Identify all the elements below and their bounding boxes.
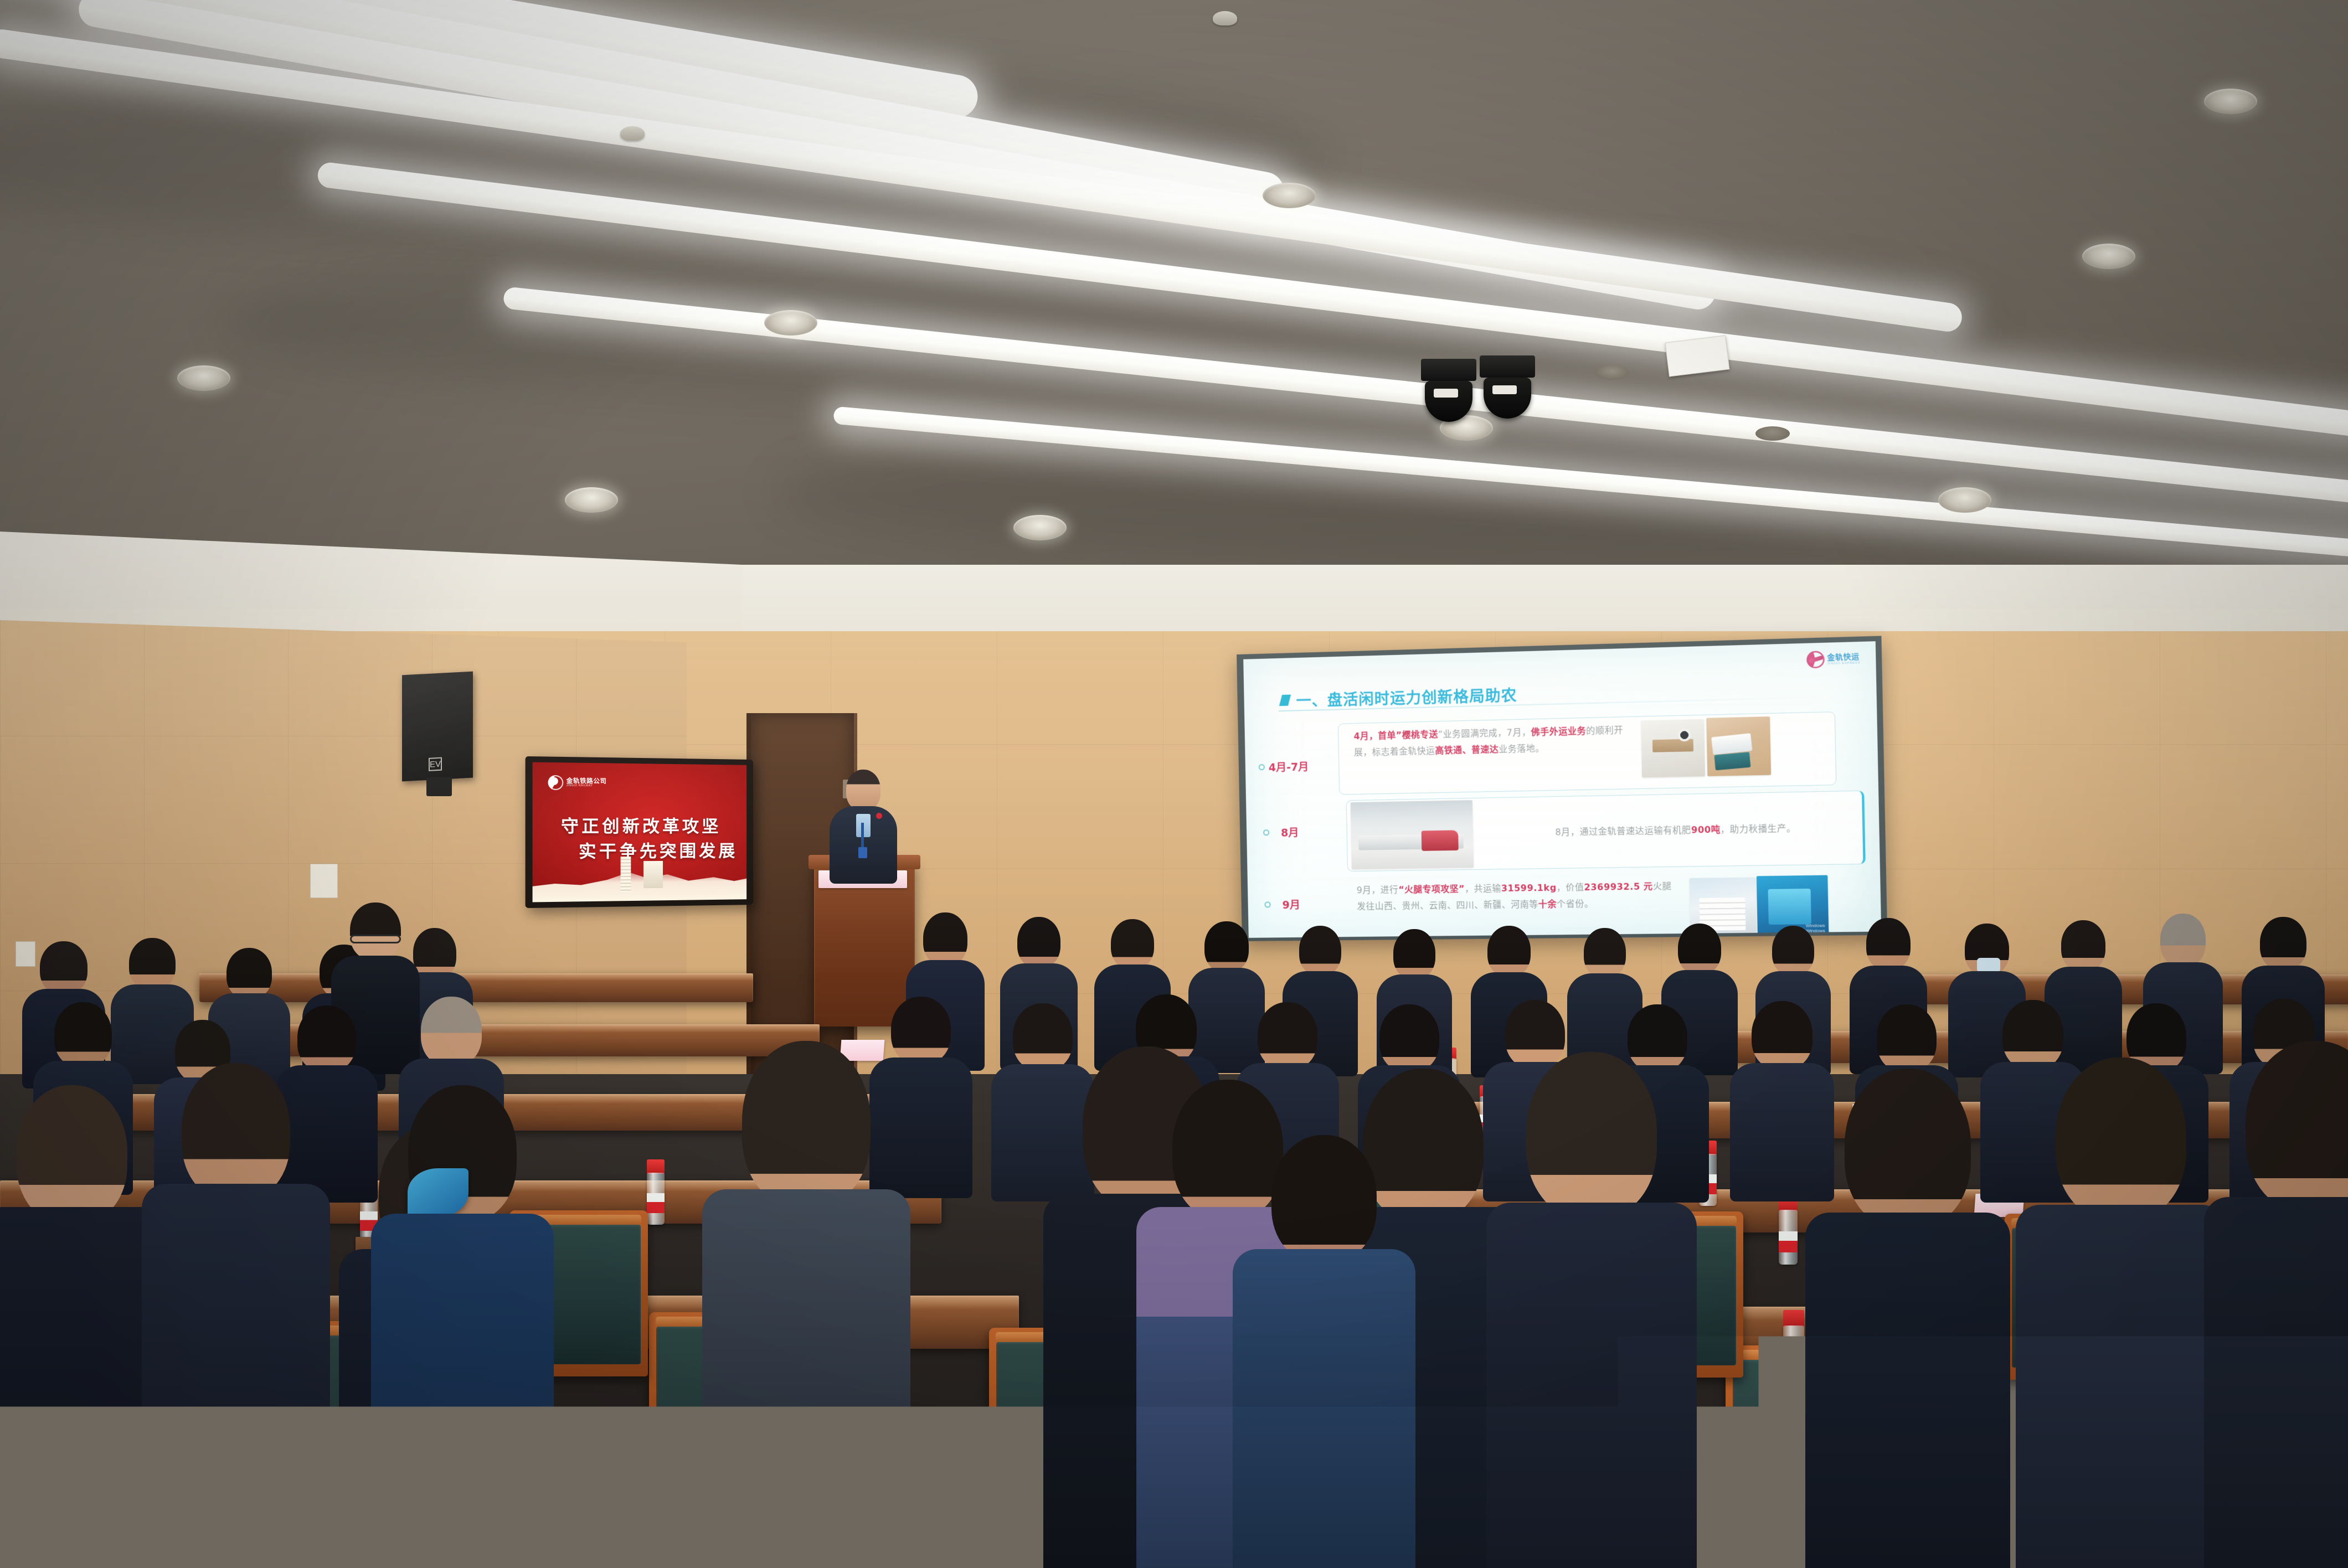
slide-bullet-icon bbox=[1279, 694, 1291, 706]
slide-logo-cn: 金轨快运 bbox=[1827, 652, 1859, 662]
attendee-foreground bbox=[2016, 1058, 2226, 1568]
downlight bbox=[2204, 89, 2257, 114]
downlight bbox=[2082, 244, 2135, 269]
banner-line-1: 守正创新改革攻坚 bbox=[561, 812, 721, 838]
company-swoosh-icon bbox=[548, 775, 564, 790]
water-bottle[interactable] bbox=[1779, 1196, 1798, 1265]
hair-bow-accessory bbox=[408, 1168, 468, 1217]
ptz-camera bbox=[1421, 359, 1476, 422]
projection-screen: 金轨快运 JINGUI EXPRESS 一、盘活闲时运力创新格局助农 4月-7月… bbox=[1237, 636, 1887, 941]
banner-line-2: 实干争先突围发展 bbox=[579, 837, 738, 863]
timeline-dot-icon bbox=[1263, 829, 1269, 835]
presenter-badge bbox=[858, 847, 867, 858]
conference-hall-scene: EV 金轨铁路公司 JINGUI RAILWAY 守正创新改革攻坚 实干争先突围… bbox=[0, 0, 2348, 1568]
slide-photo-hands-packing bbox=[1706, 716, 1771, 776]
presenter-lapel-pin bbox=[876, 813, 882, 819]
timeline-dot-icon bbox=[1259, 764, 1265, 770]
attendee-foreground bbox=[1805, 1069, 2010, 1568]
jingui-express-logo-icon bbox=[1806, 651, 1825, 668]
attendee-foreground-puffer bbox=[1233, 1135, 1415, 1568]
speaker-bracket bbox=[426, 777, 452, 796]
ceiling-vent bbox=[1595, 365, 1629, 380]
slide-logo-en: JINGUI EXPRESS bbox=[1827, 662, 1861, 666]
slide-photo-cargo-truck bbox=[1351, 800, 1474, 869]
smoke-detector bbox=[620, 126, 645, 141]
downlight bbox=[764, 310, 817, 336]
presenter bbox=[827, 770, 899, 880]
timeline-label-aug: 8月 bbox=[1263, 824, 1299, 840]
attendee-foreground bbox=[1486, 1052, 1697, 1568]
water-bottle[interactable] bbox=[647, 1159, 665, 1225]
timeline-label-apr-jul: 4月-7月 bbox=[1259, 759, 1309, 775]
timeline-dot-icon bbox=[1264, 901, 1270, 907]
downlight bbox=[1013, 515, 1067, 540]
banner-logo-text: 金轨铁路公司 JINGUI RAILWAY bbox=[567, 778, 607, 788]
led-banner: 金轨铁路公司 JINGUI RAILWAY 守正创新改革攻坚 实干争先突围发展 bbox=[526, 756, 753, 908]
speaker-brand-label: EV bbox=[429, 757, 442, 771]
face-mask bbox=[1977, 958, 2000, 972]
eyeglasses-icon bbox=[350, 935, 401, 943]
downlight bbox=[1938, 487, 1991, 513]
slide-canvas: 金轨快运 JINGUI EXPRESS 一、盘活闲时运力创新格局助农 4月-7月… bbox=[1243, 641, 1881, 938]
ptz-camera bbox=[1480, 355, 1535, 419]
attendee-foreground bbox=[0, 1085, 166, 1568]
slide-title-text: 一、盘活闲时运力创新格局助农 bbox=[1296, 683, 1517, 711]
wall-speaker: EV bbox=[402, 672, 473, 782]
banner-logo: 金轨铁路公司 JINGUI RAILWAY bbox=[548, 775, 607, 791]
banner-pagoda-icon bbox=[621, 857, 631, 892]
banner-building-icon bbox=[643, 861, 663, 888]
slide-text-sep: 9月，进行“火腿专项攻坚”，共运输31599.1kg，价值2369932.5 元… bbox=[1357, 878, 1677, 915]
downlight bbox=[565, 487, 618, 513]
attendee-foreground bbox=[2204, 1041, 2348, 1568]
timeline-label-sep: 9月 bbox=[1264, 897, 1300, 912]
attendee-foreground bbox=[702, 1041, 910, 1568]
wall-access-plate bbox=[310, 864, 338, 898]
banner-skyline-graphic bbox=[533, 859, 747, 902]
downlight bbox=[1263, 183, 1316, 208]
smoke-detector bbox=[1213, 11, 1237, 25]
presenter-head bbox=[846, 770, 881, 811]
attendee-foreground bbox=[142, 1063, 330, 1568]
slide-photo-studio-livestream bbox=[1641, 719, 1705, 777]
slide-title: 一、盘活闲时运力创新格局助农 bbox=[1280, 683, 1517, 711]
downlight bbox=[177, 365, 230, 391]
handbag bbox=[405, 1466, 498, 1549]
ceiling-vent bbox=[1755, 426, 1790, 441]
slide-text-apr-jul: 4月，首单”樱桃专送“业务圆满完成，7月，佛手外运业务的顺利开展，标志着金轨快运… bbox=[1353, 722, 1633, 761]
presenter-lanyard bbox=[861, 823, 864, 847]
slide-logo: 金轨快运 JINGUI EXPRESS bbox=[1806, 650, 1861, 669]
